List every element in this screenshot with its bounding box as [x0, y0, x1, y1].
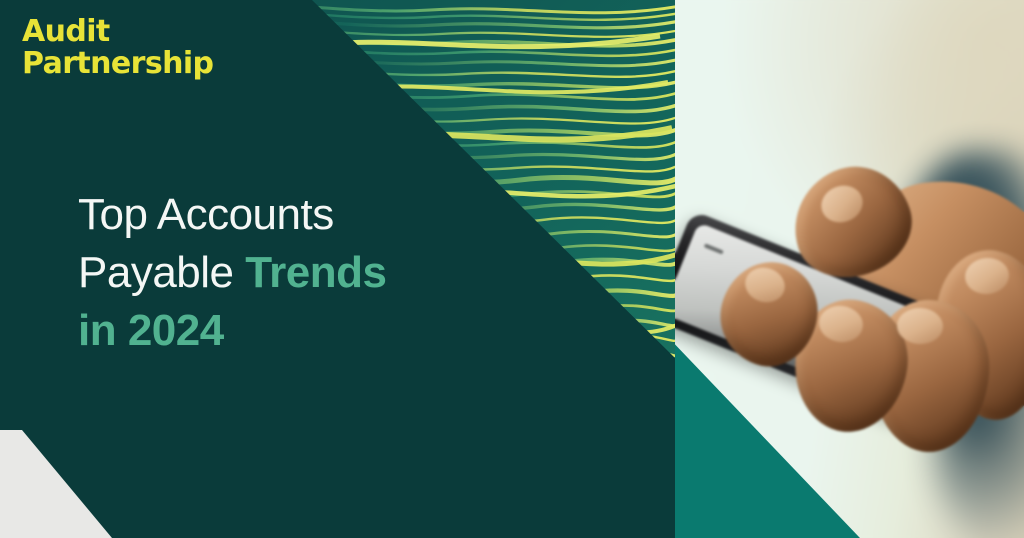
- logo-line-1: Audit: [22, 14, 110, 49]
- logo-line-2: Partnership: [22, 48, 213, 80]
- hand-holding-smartphone-photo: [675, 0, 1024, 538]
- headline-text-accent-2: in 2024: [78, 306, 224, 355]
- headline-text-plain-1: Top Accounts: [78, 190, 334, 239]
- headline-text-accent-1: Trends: [245, 248, 386, 297]
- page-title: Top Accounts Payable Trends in 2024: [78, 186, 387, 360]
- headline-line-3: in 2024: [78, 302, 387, 360]
- audit-partnership-logo[interactable]: Audit Partnership: [22, 16, 213, 79]
- banner-graphic: Audit Partnership Top Accounts Payable T…: [0, 0, 1024, 538]
- headline-line-2: Payable Trends: [78, 244, 387, 302]
- headline-line-1: Top Accounts: [78, 186, 387, 244]
- headline-text-plain-2: Payable: [78, 248, 245, 297]
